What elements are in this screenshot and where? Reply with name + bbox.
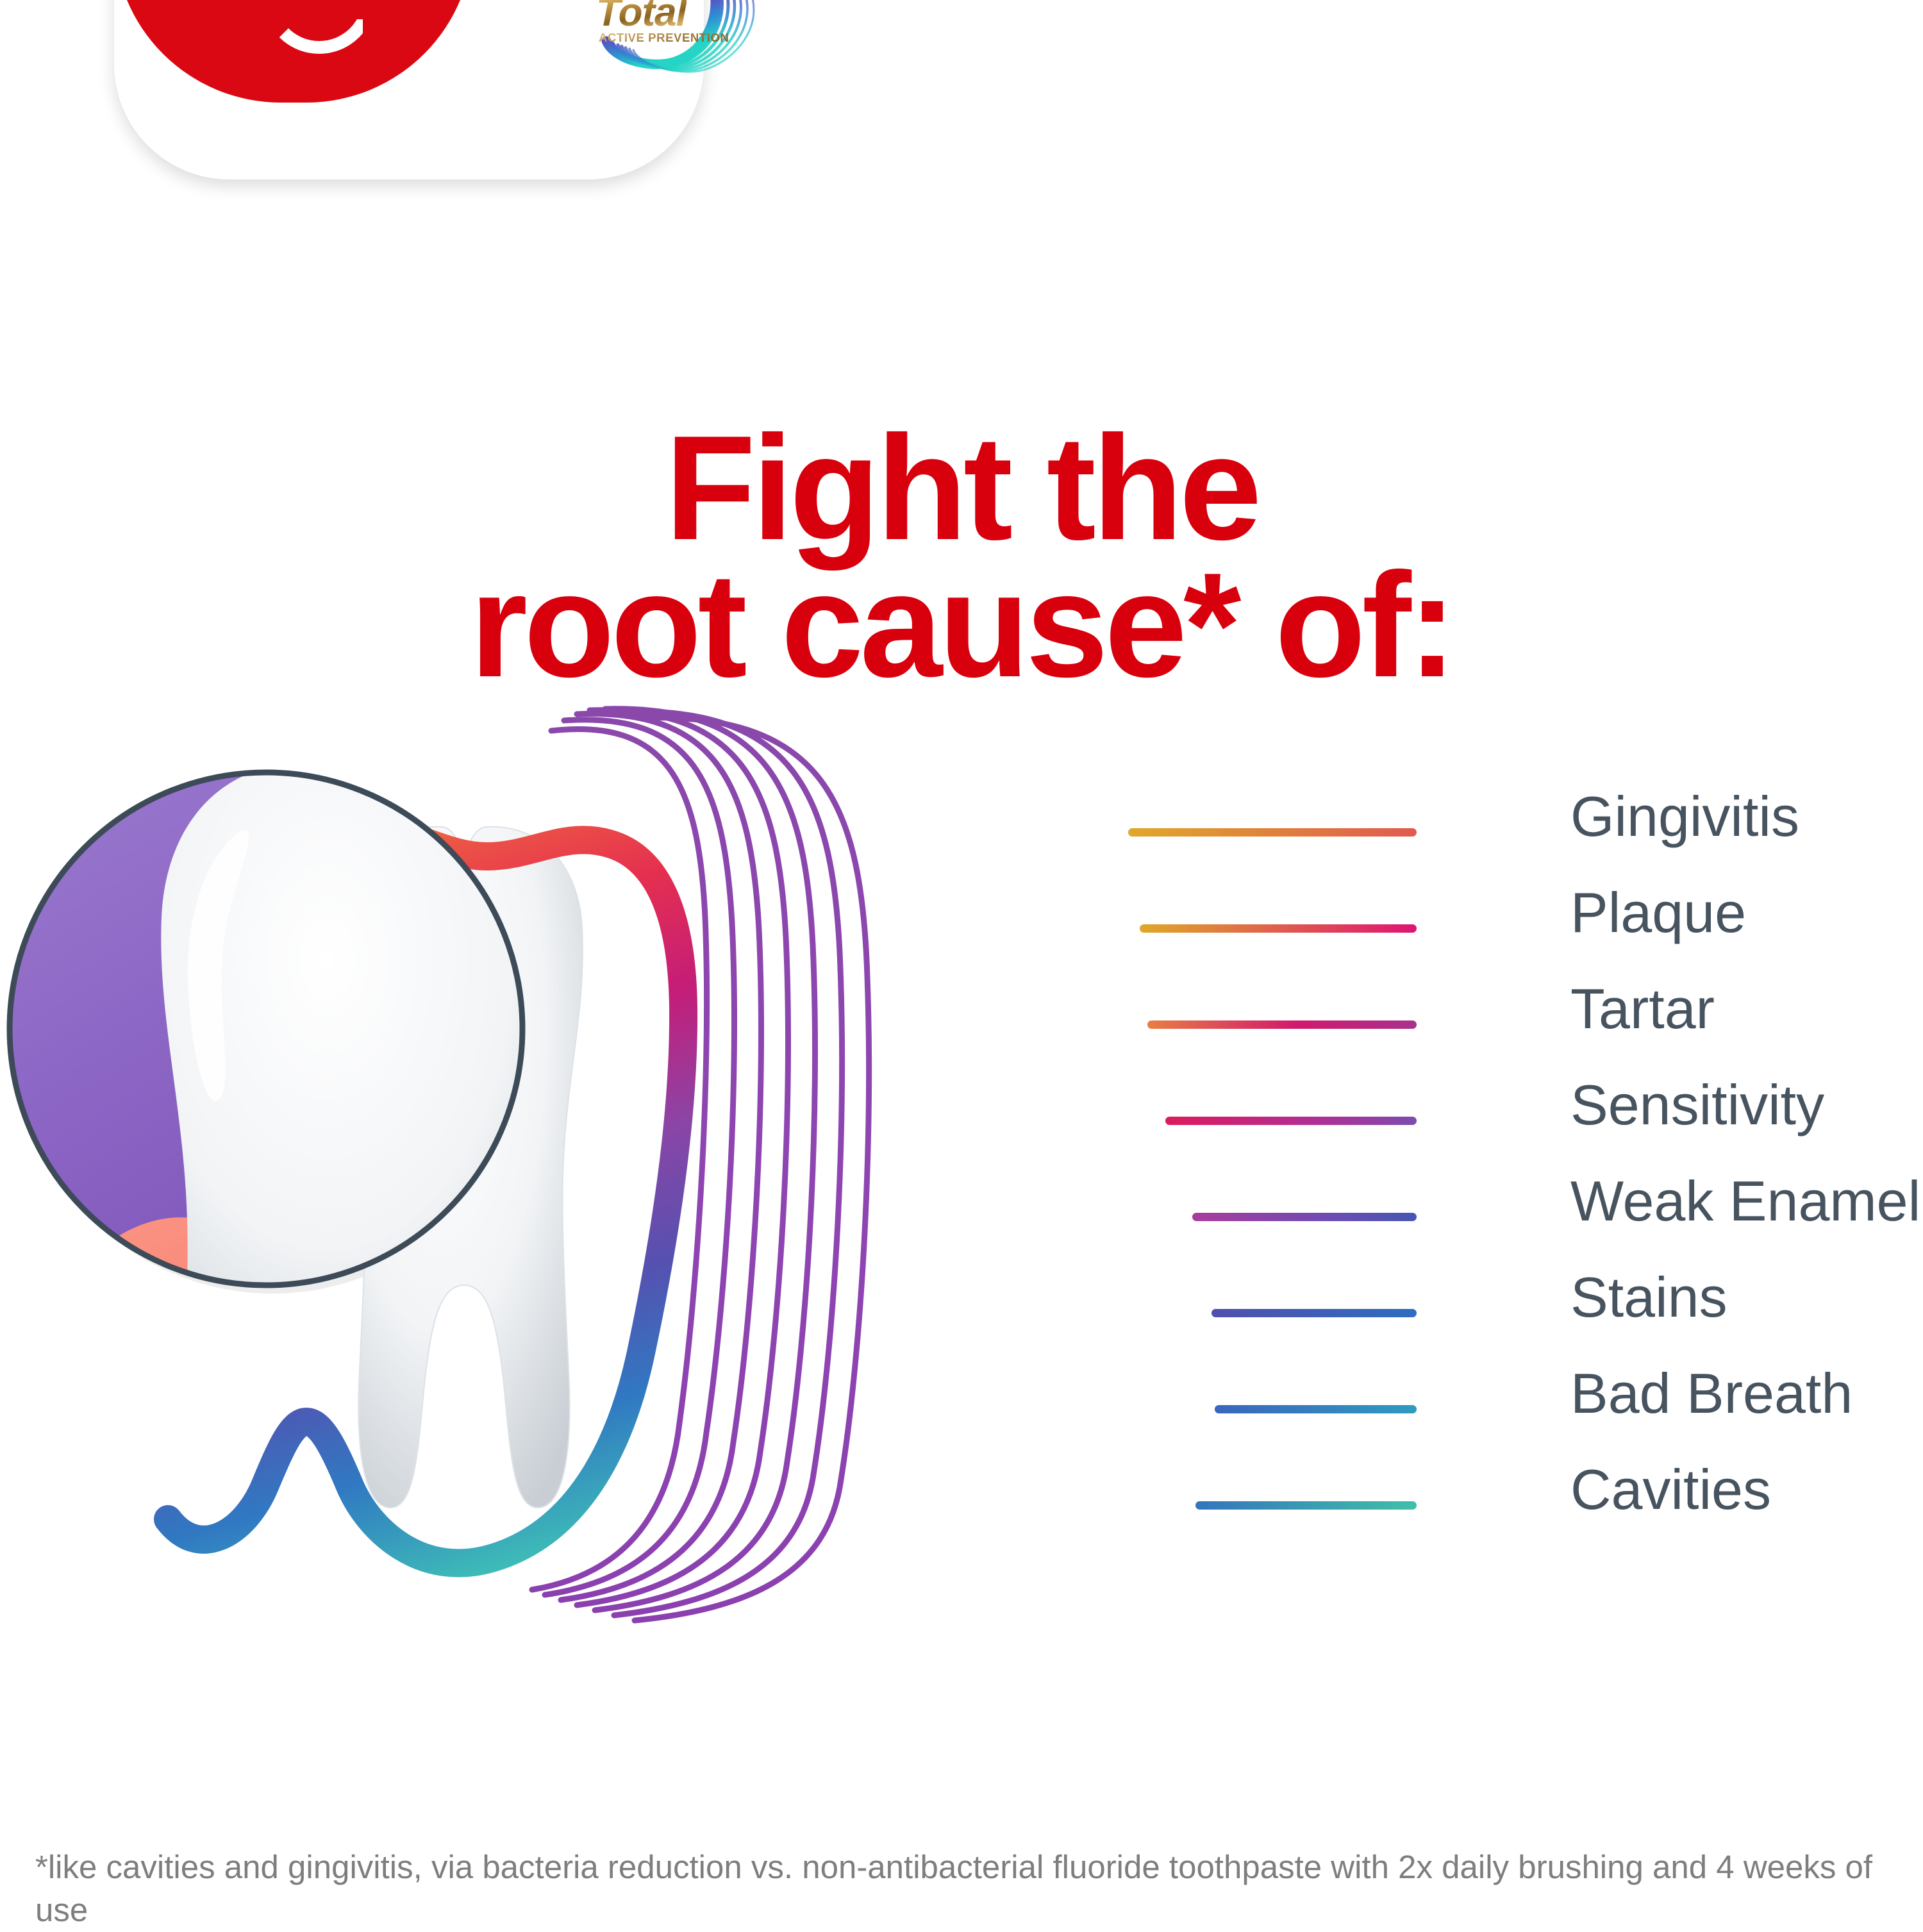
legend-line-plaque xyxy=(1140,924,1417,933)
legend-line-stains xyxy=(1211,1309,1417,1317)
total-product-name: Total xyxy=(596,0,687,35)
conditions-legend: Gingivitis Plaque Tartar Sensitivity Wea… xyxy=(1128,788,1923,1558)
page-headline: Fight the root cause* of: xyxy=(0,420,1923,694)
legend-row-bad-breath: Bad Breath xyxy=(1128,1365,1923,1461)
legend-label-bad-breath: Bad Breath xyxy=(1570,1365,1852,1422)
legend-line-sensitivity xyxy=(1165,1117,1417,1125)
legend-row-cavities: Cavities xyxy=(1128,1461,1923,1558)
legend-line-weak-enamel xyxy=(1192,1213,1417,1221)
legend-label-plaque: Plaque xyxy=(1570,885,1746,941)
headline-line-2: root cause* of: xyxy=(470,542,1453,708)
legend-label-cavities: Cavities xyxy=(1570,1461,1771,1518)
legend-row-stains: Stains xyxy=(1128,1269,1923,1365)
legend-row-plaque: Plaque xyxy=(1128,885,1923,981)
legend-label-stains: Stains xyxy=(1570,1269,1727,1326)
tooth-illustration-svg xyxy=(0,705,1282,1718)
footnote-disclaimer: *like cavities and gingivitis, via bacte… xyxy=(35,1845,1881,1932)
legend-label-sensitivity: Sensitivity xyxy=(1570,1077,1824,1133)
legend-label-gingivitis: Gingivitis xyxy=(1570,788,1799,845)
gum-dots xyxy=(135,1298,331,1386)
tooth-illustration xyxy=(0,705,1282,1718)
legend-line-cavities xyxy=(1195,1501,1417,1510)
legend-row-weak-enamel: Weak Enamel xyxy=(1128,1173,1923,1269)
colgate-logo-shield: Colgate® xyxy=(114,0,473,103)
legend-line-gingivitis xyxy=(1128,828,1417,837)
total-logo: Total ACTIVE PREVENTION xyxy=(563,0,762,78)
brand-banner: Colgate® xyxy=(114,0,704,179)
legend-label-weak-enamel: Weak Enamel xyxy=(1570,1173,1920,1229)
legend-label-tartar: Tartar xyxy=(1570,981,1715,1037)
legend-line-tartar xyxy=(1147,1020,1417,1029)
legend-row-tartar: Tartar xyxy=(1128,981,1923,1077)
legend-line-bad-breath xyxy=(1215,1405,1417,1413)
legend-row-sensitivity: Sensitivity xyxy=(1128,1077,1923,1173)
legend-row-gingivitis: Gingivitis xyxy=(1128,788,1923,885)
colgate-smile-icon xyxy=(263,0,376,54)
total-tagline: ACTIVE PREVENTION xyxy=(599,31,729,45)
